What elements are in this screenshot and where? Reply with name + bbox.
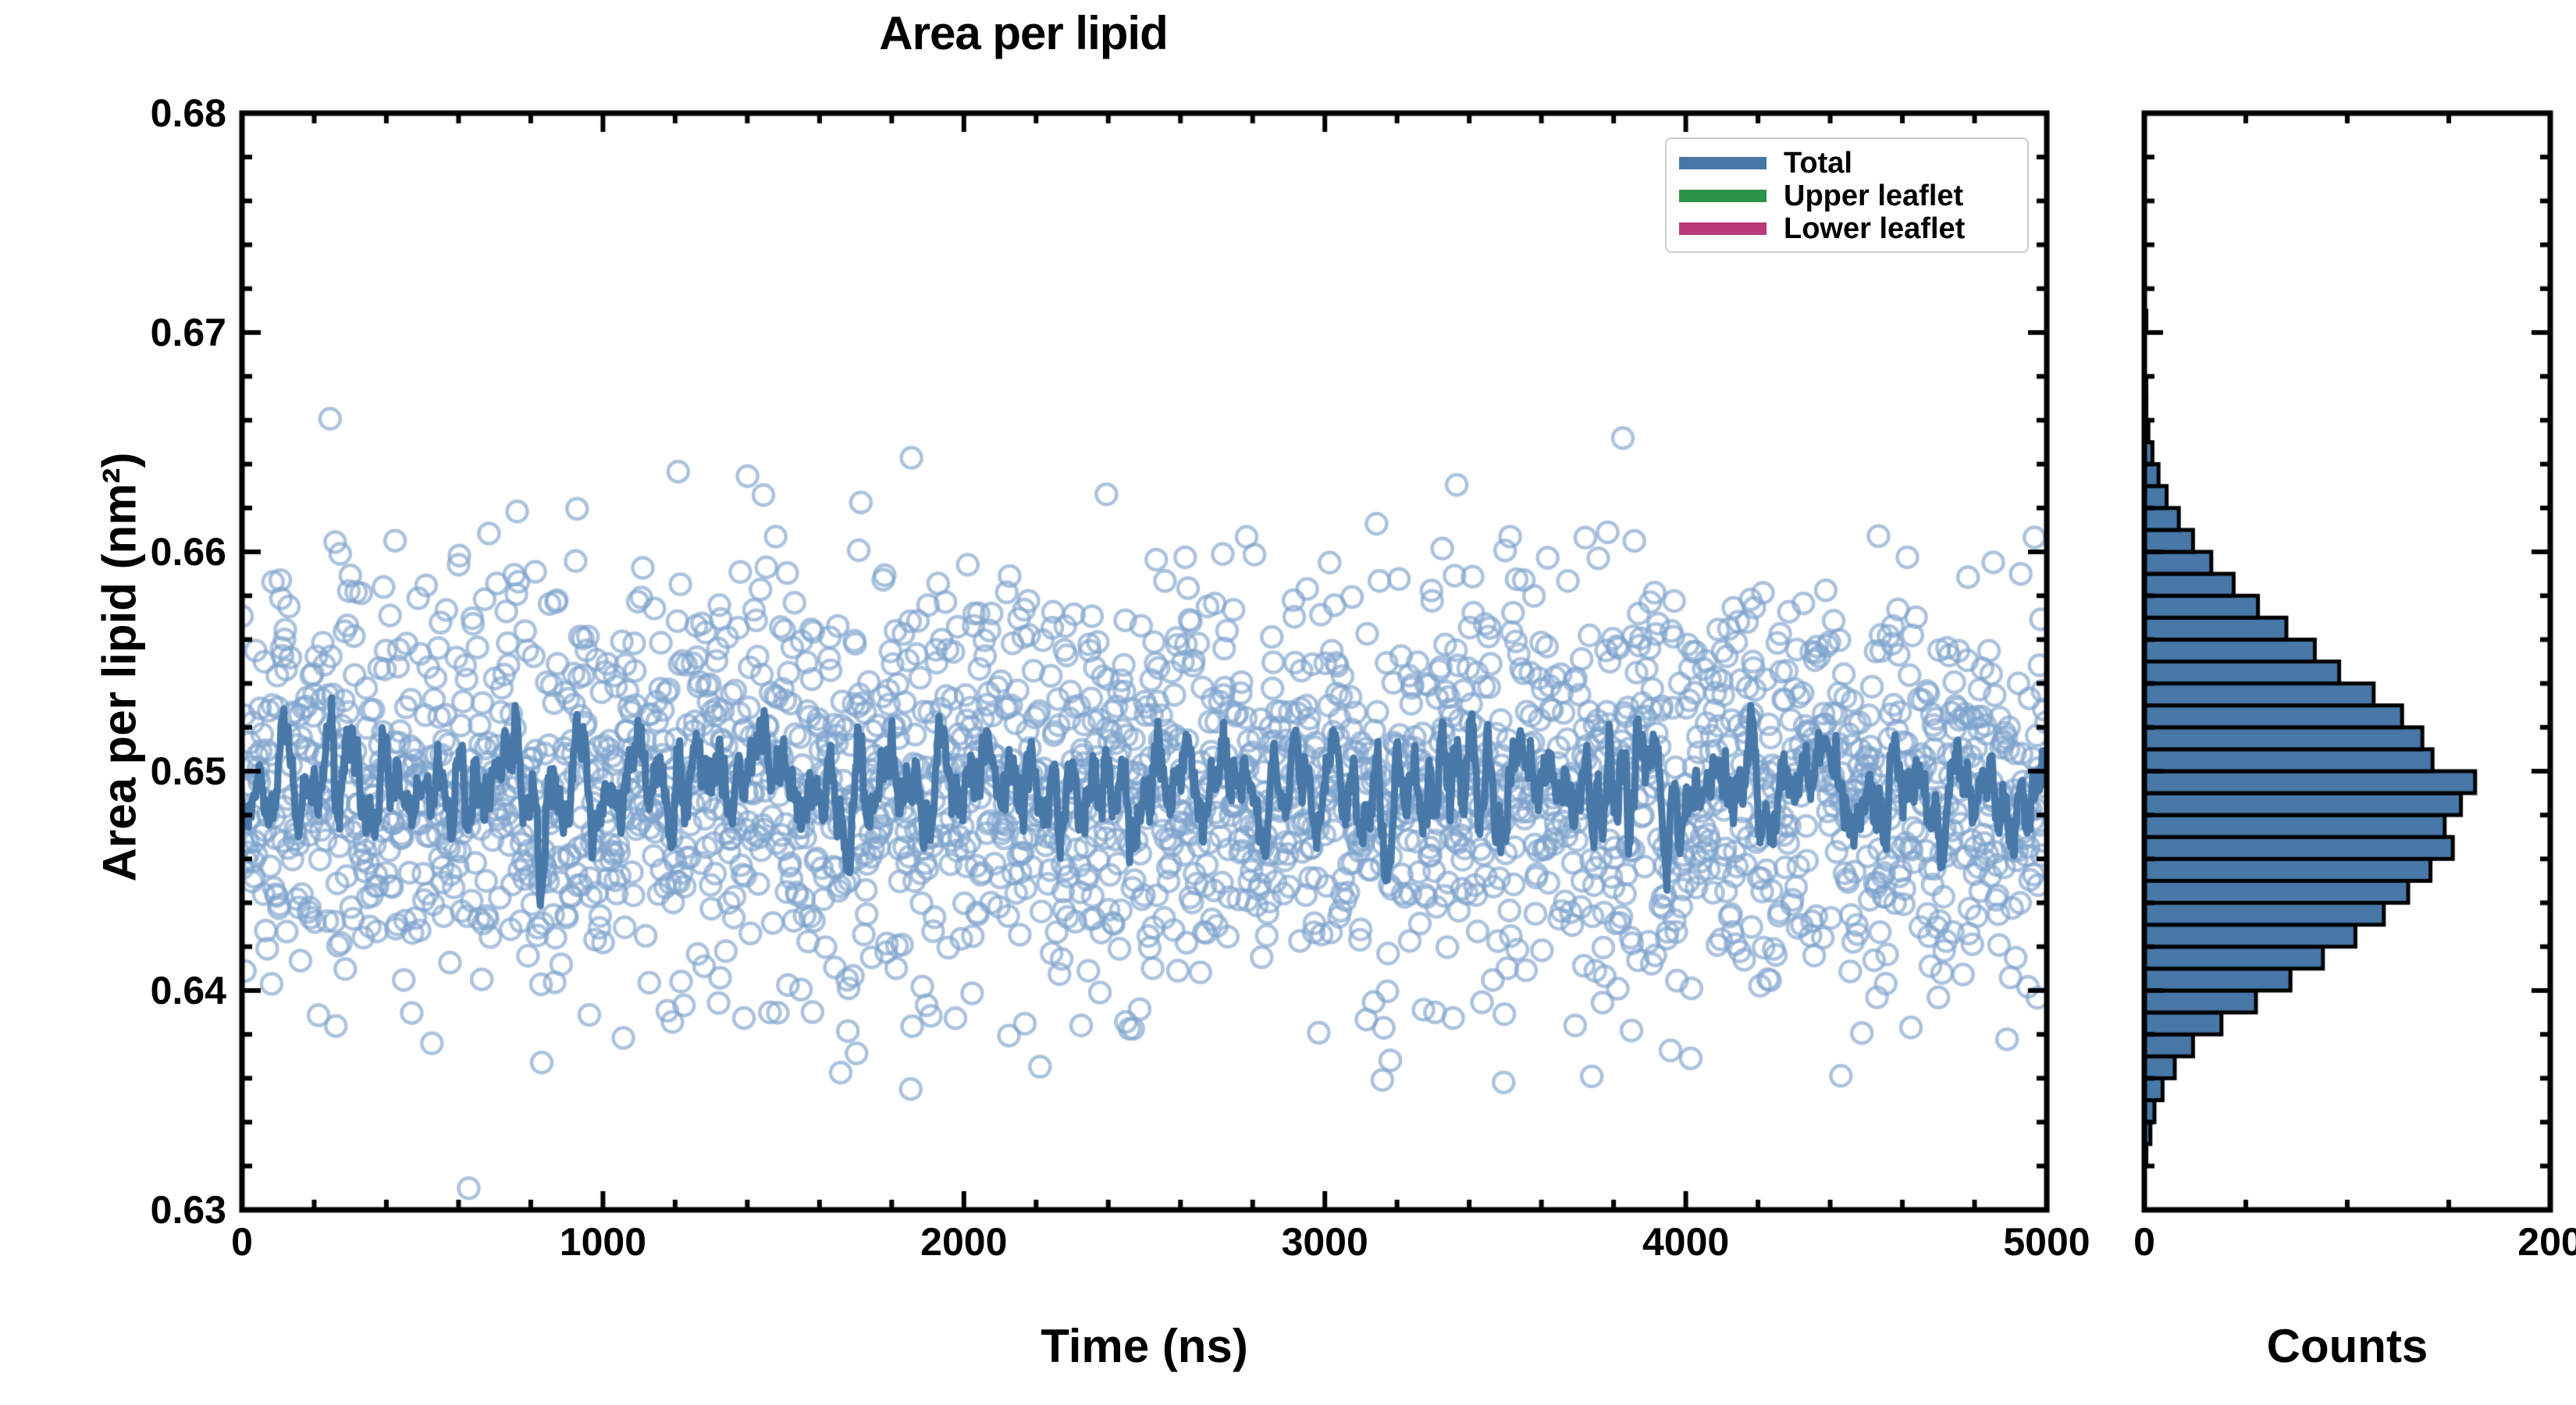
histogram-x-axis-label: Counts: [2144, 1319, 2550, 1373]
legend: Total Upper leaflet Lower leaflet: [1665, 137, 2029, 253]
y-tick-label: 0.66: [39, 529, 226, 574]
legend-label-lower-leaflet: Lower leaflet: [1784, 212, 1965, 246]
figure-container: Area per lipid Area per lipid (nm²) Time…: [0, 0, 2576, 1405]
histogram-x-tick-label: 200: [2433, 1219, 2576, 1264]
legend-item-total[interactable]: Total: [1679, 147, 2015, 180]
legend-label-total: Total: [1784, 147, 1852, 180]
legend-swatch-total: [1679, 157, 1767, 169]
x-tick-label: 3000: [1208, 1219, 1442, 1264]
x-tick-label: 2000: [847, 1219, 1081, 1264]
x-tick-label: 4000: [1569, 1219, 1803, 1264]
y-tick-label: 0.65: [39, 749, 226, 794]
x-axis-label: Time (ns): [242, 1319, 2047, 1373]
x-tick-label: 0: [125, 1219, 359, 1264]
y-tick-label: 0.67: [39, 310, 226, 355]
legend-item-upper-leaflet[interactable]: Upper leaflet: [1679, 180, 2015, 212]
y-tick-label: 0.68: [39, 91, 226, 136]
legend-item-lower-leaflet[interactable]: Lower leaflet: [1679, 212, 2015, 245]
y-tick-label: 0.64: [39, 968, 226, 1013]
page-title: Area per lipid: [0, 6, 2047, 60]
y-axis-label: Area per lipid (nm²): [93, 316, 147, 1019]
legend-swatch-upper-leaflet: [1679, 190, 1767, 202]
area-per-lipid-plot-canvas: [0, 0, 2576, 1405]
legend-swatch-lower-leaflet: [1679, 222, 1767, 235]
x-tick-label: 1000: [486, 1219, 720, 1264]
histogram-x-tick-label: 0: [2027, 1219, 2261, 1264]
legend-label-upper-leaflet: Upper leaflet: [1784, 180, 1963, 213]
